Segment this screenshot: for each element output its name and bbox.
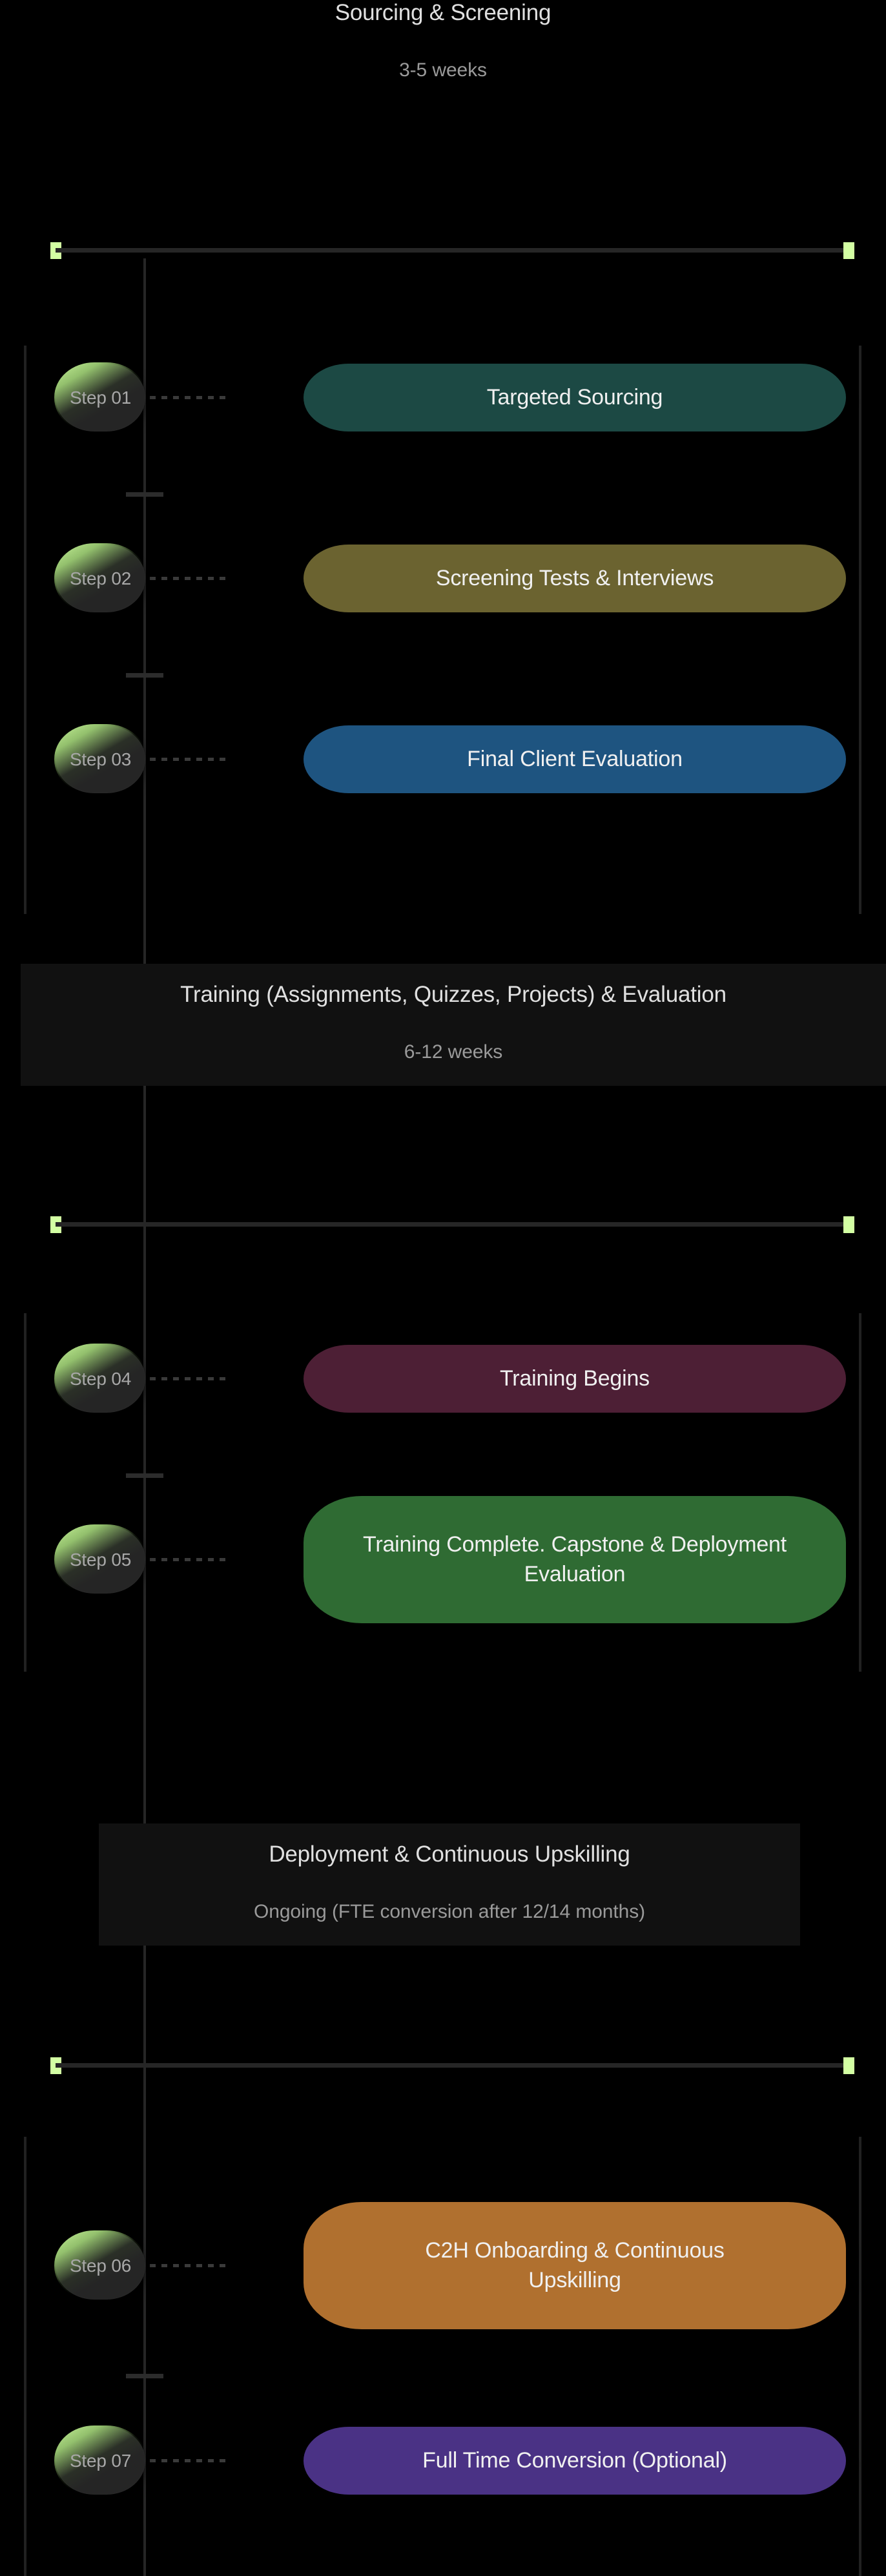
phase-measure-bar-2 <box>50 1216 854 1233</box>
step-chip-label: Step 04 <box>70 1369 131 1389</box>
measure-cap-right-icon <box>843 2057 854 2074</box>
step-pill-label: Training Begins <box>483 1364 666 1394</box>
phase-measure-bar-1 <box>50 242 854 259</box>
step-connector-02 <box>150 577 231 580</box>
step-tick-04-05 <box>126 1473 163 1478</box>
step-pill-07[interactable]: Full Time Conversion (Optional) <box>304 2427 846 2495</box>
step-connector-03 <box>150 758 231 761</box>
phase-header-1: Sourcing & Screening 3-5 weeks <box>0 0 886 82</box>
step-chip-04[interactable]: Step 04 <box>56 1345 145 1413</box>
step-chip-label: Step 07 <box>70 2451 131 2471</box>
phase-bracket-left-3 <box>24 2137 26 2576</box>
measure-rule <box>56 2063 849 2068</box>
step-pill-02[interactable]: Screening Tests & Interviews <box>304 545 846 612</box>
step-chip-label: Step 02 <box>70 568 131 589</box>
step-tick-06-07 <box>126 2374 163 2378</box>
step-pill-label: Targeted Sourcing <box>470 383 680 413</box>
step-row-07[interactable]: Step 07 Full Time Conversion (Optional) <box>0 2427 886 2495</box>
step-tick-01-02 <box>126 492 163 497</box>
step-chip-02[interactable]: Step 02 <box>56 545 145 612</box>
phase-title: Training (Assignments, Quizzes, Projects… <box>21 981 886 1009</box>
step-row-01[interactable]: Step 01 Targeted Sourcing <box>0 364 886 431</box>
timeline-spine-5 <box>143 2073 146 2576</box>
step-pill-03[interactable]: Final Client Evaluation <box>304 725 846 793</box>
phase-duration: Ongoing (FTE conversion after 12/14 mont… <box>99 1900 800 1924</box>
step-pill-label: Final Client Evaluation <box>450 745 699 774</box>
phase-measure-bar-3 <box>50 2057 854 2074</box>
step-row-05[interactable]: Step 05 Training Complete. Capstone & De… <box>0 1526 886 1594</box>
step-chip-01[interactable]: Step 01 <box>56 364 145 431</box>
step-pill-06[interactable]: C2H Onboarding & Continuous Upskilling <box>304 2202 846 2329</box>
step-pill-label: Full Time Conversion (Optional) <box>406 2446 744 2476</box>
step-connector-04 <box>150 1377 231 1380</box>
phase-title: Sourcing & Screening <box>0 0 886 27</box>
step-tick-02-03 <box>126 673 163 678</box>
phase-title: Deployment & Continuous Upskilling <box>99 1840 800 1869</box>
step-row-03[interactable]: Step 03 Final Client Evaluation <box>0 725 886 793</box>
phase-header-3: Deployment & Continuous Upskilling Ongoi… <box>99 1823 800 1946</box>
step-chip-label: Step 06 <box>70 2256 131 2276</box>
step-connector-07 <box>150 2459 231 2462</box>
phase-duration: 3-5 weeks <box>0 58 886 83</box>
measure-rule <box>56 1222 849 1227</box>
timeline-spine-3 <box>143 1232 146 1801</box>
step-pill-label: C2H Onboarding & Continuous Upskilling <box>390 2236 759 2296</box>
step-pill-05[interactable]: Training Complete. Capstone & Deployment… <box>304 1496 846 1623</box>
step-chip-label: Step 03 <box>70 749 131 770</box>
phase-duration: 6-12 weeks <box>21 1040 886 1065</box>
step-pill-label: Training Complete. Capstone & Deployment… <box>335 1530 814 1590</box>
step-chip-label: Step 05 <box>70 1550 131 1570</box>
step-connector-05 <box>150 1558 231 1561</box>
step-row-06[interactable]: Step 06 C2H Onboarding & Continuous Upsk… <box>0 2232 886 2300</box>
step-connector-06 <box>150 2264 231 2267</box>
step-chip-05[interactable]: Step 05 <box>56 1526 145 1594</box>
step-pill-01[interactable]: Targeted Sourcing <box>304 364 846 431</box>
step-chip-label: Step 01 <box>70 388 131 408</box>
measure-cap-right-icon <box>843 242 854 259</box>
step-pill-label: Screening Tests & Interviews <box>419 564 730 594</box>
step-chip-03[interactable]: Step 03 <box>56 725 145 793</box>
step-row-02[interactable]: Step 02 Screening Tests & Interviews <box>0 545 886 612</box>
measure-rule <box>56 248 849 253</box>
step-pill-04[interactable]: Training Begins <box>304 1345 846 1413</box>
pipeline-timeline-page: { "colors": { "background": "#000000", "… <box>0 0 886 2576</box>
step-row-04[interactable]: Step 04 Training Begins <box>0 1345 886 1413</box>
measure-cap-right-icon <box>843 1216 854 1233</box>
step-connector-01 <box>150 396 231 399</box>
step-chip-07[interactable]: Step 07 <box>56 2427 145 2495</box>
step-chip-06[interactable]: Step 06 <box>56 2232 145 2300</box>
phase-header-2: Training (Assignments, Quizzes, Projects… <box>21 964 886 1086</box>
phase-bracket-right-3 <box>859 2137 861 2576</box>
